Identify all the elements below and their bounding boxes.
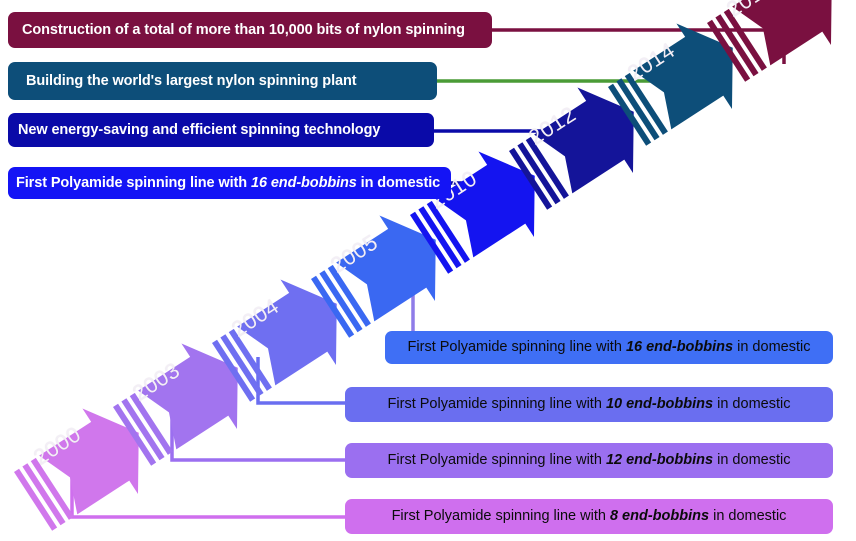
callout-text-emphasis: 10 end-bobbins (606, 396, 713, 412)
callout-energy-saving-technology[interactable]: New energy-saving and efficient spinning… (8, 113, 434, 147)
timeline-infographic: 2000 2003 2004 2005 2010 2012 2014 2015 … (0, 0, 856, 541)
callout-text-pre: First Polyamide spinning line with (388, 452, 606, 468)
callout-text-pre: First Polyamide spinning line with (392, 508, 610, 524)
callout-12-end-bobbins-2003[interactable]: First Polyamide spinning line with 12 en… (345, 443, 833, 478)
callout-text-post: in domestic (709, 508, 786, 524)
callout-text-post: in domestic (713, 452, 790, 468)
callout-largest-nylon-plant[interactable]: Building the world's largest nylon spinn… (8, 62, 437, 100)
callout-text-emphasis: 16 end-bobbins (251, 175, 357, 191)
callout-text-emphasis: 8 end-bobbins (610, 508, 709, 524)
callout-construction-10000-bits[interactable]: Construction of a total of more than 10,… (8, 12, 492, 48)
callout-16-end-bobbins-top[interactable]: First Polyamide spinning line with 16 en… (8, 167, 451, 199)
callout-text-emphasis: 12 end-bobbins (606, 452, 713, 468)
callout-text-post: in domestic (357, 175, 440, 191)
callout-text: First Polyamide spinning line with 10 en… (355, 396, 823, 413)
callout-text: First Polyamide spinning line with 16 en… (16, 175, 443, 192)
callout-text-post: in domestic (733, 339, 810, 355)
callout-text-post: in domestic (713, 396, 790, 412)
callout-text: Construction of a total of more than 10,… (22, 22, 478, 39)
callout-10-end-bobbins-2004[interactable]: First Polyamide spinning line with 10 en… (345, 387, 833, 422)
callout-text-pre: First Polyamide spinning line with (16, 175, 251, 191)
callout-text: New energy-saving and efficient spinning… (18, 122, 424, 139)
callout-text: Building the world's largest nylon spinn… (26, 73, 419, 90)
callout-text: First Polyamide spinning line with 16 en… (395, 339, 823, 356)
callout-text-pre: First Polyamide spinning line with (408, 339, 626, 355)
callout-text: First Polyamide spinning line with 8 end… (355, 508, 823, 525)
callout-text: First Polyamide spinning line with 12 en… (355, 452, 823, 469)
callout-8-end-bobbins-2000[interactable]: First Polyamide spinning line with 8 end… (345, 499, 833, 534)
callout-16-end-bobbins-2005[interactable]: First Polyamide spinning line with 16 en… (385, 331, 833, 364)
callout-text-pre: First Polyamide spinning line with (388, 396, 606, 412)
callout-text-emphasis: 16 end-bobbins (626, 339, 733, 355)
